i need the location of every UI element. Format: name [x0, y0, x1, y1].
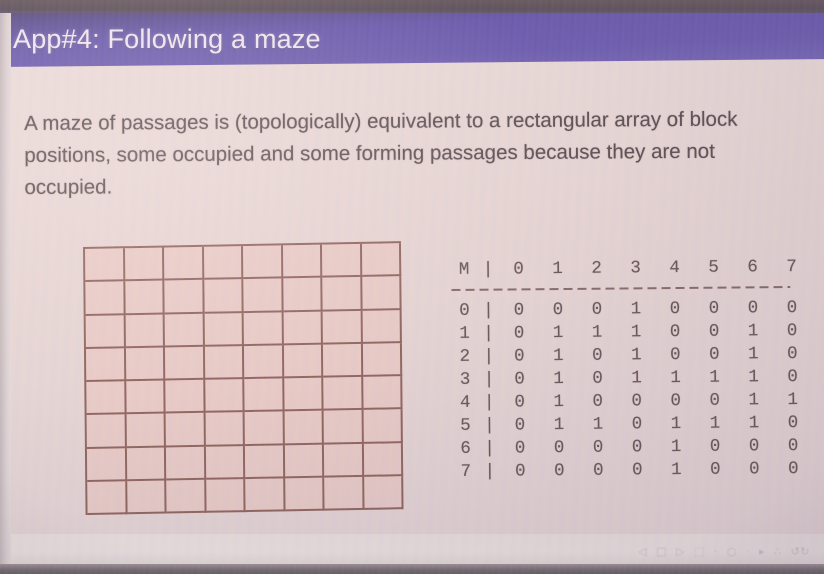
body-line: positions, some occupied and some formin…: [24, 135, 824, 172]
matrix-col-header: 4: [655, 257, 694, 277]
toolbar-icon[interactable]: ∴: [774, 545, 782, 558]
presentation-toolbar[interactable]: ◁□▷⬚·○·▸∴↺↻: [638, 545, 810, 558]
matrix-cell: 1: [773, 389, 812, 409]
screen-bezel-bottom: [0, 564, 824, 574]
matrix-col-header: 5: [694, 257, 733, 277]
maze-cell: [87, 414, 127, 448]
slide-bottom-strip: ◁□▷⬚·○·▸∴↺↻: [11, 534, 824, 564]
matrix-cell: 0: [656, 390, 695, 410]
maze-cell: [86, 381, 126, 415]
maze-cell: [363, 376, 403, 410]
matrix-row: 0|00010000: [451, 296, 801, 322]
toolbar-icon[interactable]: □: [656, 545, 667, 558]
toolbar-icon[interactable]: ⬚: [694, 545, 705, 558]
maze-cell: [245, 445, 285, 479]
matrix-cell: 0: [577, 299, 616, 319]
maze-cell: [164, 280, 204, 314]
matrix-separator: |: [478, 323, 500, 343]
toolbar-icon[interactable]: ▸: [759, 545, 765, 558]
matrix-cell: 0: [617, 391, 656, 411]
screen-bezel-top: [0, 0, 824, 13]
matrix-cell: 0: [618, 437, 657, 457]
maze-cell: [86, 315, 126, 349]
maze-cell: [362, 276, 402, 310]
toolbar-icon[interactable]: ▷: [676, 545, 685, 558]
matrix-cell: 0: [499, 300, 538, 320]
maze-cell: [85, 281, 125, 315]
matrix-separator: |: [478, 346, 500, 366]
matrix-row: 6|00001000: [453, 434, 803, 460]
matrix-header-row: M | 0 1 2 3 4 5 6 7: [451, 255, 801, 281]
maze-cell: [322, 244, 362, 278]
maze-cell: [126, 381, 166, 415]
maze-cell: [323, 344, 363, 378]
matrix-separator: |: [479, 461, 501, 481]
matrix-col-header: 2: [577, 258, 616, 278]
maze-cell: [126, 447, 166, 481]
matrix-cell: 0: [501, 461, 540, 481]
matrix-col-header: 3: [616, 258, 655, 278]
maze-cell: [126, 414, 166, 448]
maze-cell: [125, 347, 165, 381]
matrix-cell: 1: [695, 367, 734, 387]
matrix-cell: 1: [734, 390, 773, 410]
matrix-separator: |: [478, 415, 500, 435]
matrix-cell: 0: [500, 415, 539, 435]
matrix-cell: 1: [539, 322, 578, 342]
matrix-cell: 0: [735, 459, 774, 479]
matrix-separator: |: [477, 300, 499, 320]
slide-title: App#4: Following a maze: [13, 24, 713, 55]
matrix-row: 4|01000011: [452, 388, 802, 414]
matrix-cell: 0: [772, 297, 811, 317]
matrix-separator: |: [478, 392, 500, 412]
toolbar-icon[interactable]: ○: [727, 545, 737, 558]
screen-photo: App#4: Following a maze A maze of passag…: [0, 0, 824, 574]
matrix-row: 3|01011110: [452, 365, 802, 391]
maze-cell: [245, 478, 285, 512]
matrix-cell: 1: [539, 414, 578, 434]
matrix-row-label: 6: [453, 438, 479, 458]
matrix-row-label: 2: [452, 346, 478, 366]
matrix-cell: 0: [773, 343, 812, 363]
matrix-cell: 0: [773, 320, 812, 340]
maze-cell: [324, 410, 364, 444]
body-line: occupied.: [24, 167, 824, 204]
matrix-cell: 0: [618, 460, 657, 480]
matrix-row: 7|00001000: [453, 457, 803, 483]
maze-cell: [204, 346, 244, 380]
maze-cell: [205, 379, 245, 413]
maze-cell: [166, 413, 206, 447]
matrix-cell: 0: [579, 460, 618, 480]
maze-cell: [243, 279, 283, 313]
matrix-cell: 0: [695, 321, 734, 341]
toolbar-icon[interactable]: ↺↻: [791, 545, 810, 558]
matrix-cell: 1: [539, 391, 578, 411]
maze-cell: [362, 310, 402, 344]
matrix-cell: 1: [617, 345, 656, 365]
matrix-col-header: 1: [538, 258, 577, 278]
maze-cell: [283, 344, 323, 378]
maze-cell: [204, 279, 244, 313]
matrix-cell: 0: [655, 298, 694, 318]
maze-cell: [244, 378, 284, 412]
matrix-cell: 1: [617, 322, 656, 342]
matrix-cell: 1: [578, 322, 617, 342]
matrix-cell: 0: [540, 437, 579, 457]
matrix-row-label: 1: [452, 323, 478, 343]
matrix-row: 1|01110010: [452, 319, 802, 345]
matrix-cell: 0: [578, 368, 617, 388]
maze-cell: [284, 411, 324, 445]
maze-cell: [127, 480, 167, 514]
maze-cell: [323, 310, 363, 344]
matrix-cell: 1: [539, 368, 578, 388]
maze-cell: [85, 248, 125, 282]
maze-cell: [125, 248, 165, 282]
matrix-cell: 0: [774, 458, 813, 478]
matrix-cell: 0: [774, 435, 813, 455]
screen-bezel-left: [0, 0, 11, 574]
matrix-cell: 0: [696, 459, 735, 479]
maze-cell: [165, 380, 205, 414]
matrix-cell: 1: [656, 413, 695, 433]
maze-cell: [284, 378, 324, 412]
maze-cell: [165, 347, 205, 381]
matrix-cell: 0: [694, 298, 733, 318]
matrix-separator: |: [478, 369, 500, 389]
matrix-cell: 1: [539, 345, 578, 365]
matrix-row-label: 3: [452, 369, 478, 389]
maze-cell: [362, 343, 402, 377]
matrix-cell: 0: [735, 436, 774, 456]
maze-cell: [363, 443, 403, 477]
matrix-row-label: 4: [452, 392, 478, 412]
maze-cell: [166, 446, 206, 480]
maze-cell: [283, 278, 323, 312]
matrix-row-label: 5: [452, 415, 478, 435]
matrix-cell: 0: [656, 344, 695, 364]
matrix-cell: 1: [617, 368, 656, 388]
maze-cell: [285, 477, 325, 511]
maze-cell: [322, 277, 362, 311]
matrix-cell: 1: [734, 367, 773, 387]
matrix-cell: 0: [695, 344, 734, 364]
matrix-cell: 0: [500, 392, 539, 412]
maze-cell: [166, 480, 206, 514]
toolbar-icon[interactable]: ·: [746, 545, 750, 558]
matrix-cell: 1: [734, 413, 773, 433]
maze-cell: [324, 477, 364, 511]
maze-cell: [87, 448, 127, 482]
maze-cell: [165, 313, 205, 347]
maze-cell: [125, 314, 165, 348]
matrix-row: 2|01010010: [452, 342, 802, 368]
matrix-row-label: 0: [451, 300, 477, 320]
matrix-cell: 0: [578, 391, 617, 411]
matrix-cell: 1: [616, 299, 655, 319]
maze-cell: [361, 243, 401, 277]
maze-cell: [282, 245, 322, 279]
matrix-cell: 1: [656, 367, 695, 387]
matrix-cell: 1: [657, 436, 696, 456]
matrix-cell: 1: [695, 413, 734, 433]
matrix-col-header: 6: [733, 257, 772, 277]
maze-cell: [364, 476, 404, 510]
maze-cell: [86, 348, 126, 382]
matrix-cell: 0: [500, 323, 539, 343]
matrix-divider-line: [451, 286, 790, 291]
matrix-cell: 0: [696, 436, 735, 456]
maze-cell: [243, 245, 283, 279]
matrix-cell: 0: [695, 390, 734, 410]
maze-cell: [206, 479, 246, 513]
matrix-cell: 0: [733, 298, 772, 318]
maze-cell: [244, 312, 284, 346]
matrix-cell: 0: [579, 437, 618, 457]
toolbar-icon[interactable]: ·: [714, 545, 718, 558]
maze-cell: [283, 311, 323, 345]
matrix-separator: |: [479, 438, 501, 458]
maze-cell: [324, 443, 364, 477]
matrix-col-header: 0: [499, 259, 538, 279]
matrix-separator: |: [477, 259, 499, 279]
body-line: A maze of passages is (topologically) eq…: [24, 103, 824, 140]
matrix-cell: 0: [578, 345, 617, 365]
maze-cell: [323, 377, 363, 411]
matrix-cell: 0: [500, 346, 539, 366]
maze-cell: [125, 281, 165, 315]
toolbar-icon[interactable]: ◁: [638, 545, 647, 558]
matrix-cell: 1: [734, 321, 773, 341]
maze-cell: [87, 481, 127, 515]
maze-cell: [205, 446, 245, 480]
maze-cell: [244, 345, 284, 379]
matrix-cell: 1: [734, 344, 773, 364]
maze-cell: [204, 313, 244, 347]
maze-matrix: M | 0 1 2 3 4 5 6 7 0|000100001|01110010…: [451, 255, 803, 483]
matrix-cell: 0: [617, 414, 656, 434]
maze-cell: [284, 444, 324, 478]
matrix-cell: 0: [500, 369, 539, 389]
matrix-corner-label: M: [451, 259, 477, 279]
matrix-row: 5|01101110: [452, 411, 802, 437]
matrix-col-header: 7: [772, 256, 811, 276]
matrix-body: 0|000100001|011100102|010100103|01011110…: [451, 296, 803, 483]
matrix-cell: 0: [656, 321, 695, 341]
maze-grid: [83, 241, 404, 515]
matrix-cell: 0: [773, 366, 812, 386]
maze-cell: [205, 412, 245, 446]
matrix-cell: 1: [657, 459, 696, 479]
maze-diagram: [73, 236, 413, 528]
matrix-cell: 1: [578, 414, 617, 434]
maze-cell: [245, 412, 285, 446]
maze-cell: [164, 247, 204, 281]
matrix-cell: 0: [538, 299, 577, 319]
slide-body-text: A maze of passages is (topologically) eq…: [24, 103, 824, 204]
matrix-cell: 0: [540, 460, 579, 480]
presentation-slide: App#4: Following a maze A maze of passag…: [11, 12, 824, 564]
matrix-cell: 0: [501, 438, 540, 458]
matrix-row-label: 7: [453, 461, 479, 481]
matrix-cell: 0: [773, 412, 812, 432]
maze-cell: [363, 409, 403, 443]
maze-cell: [203, 246, 243, 280]
